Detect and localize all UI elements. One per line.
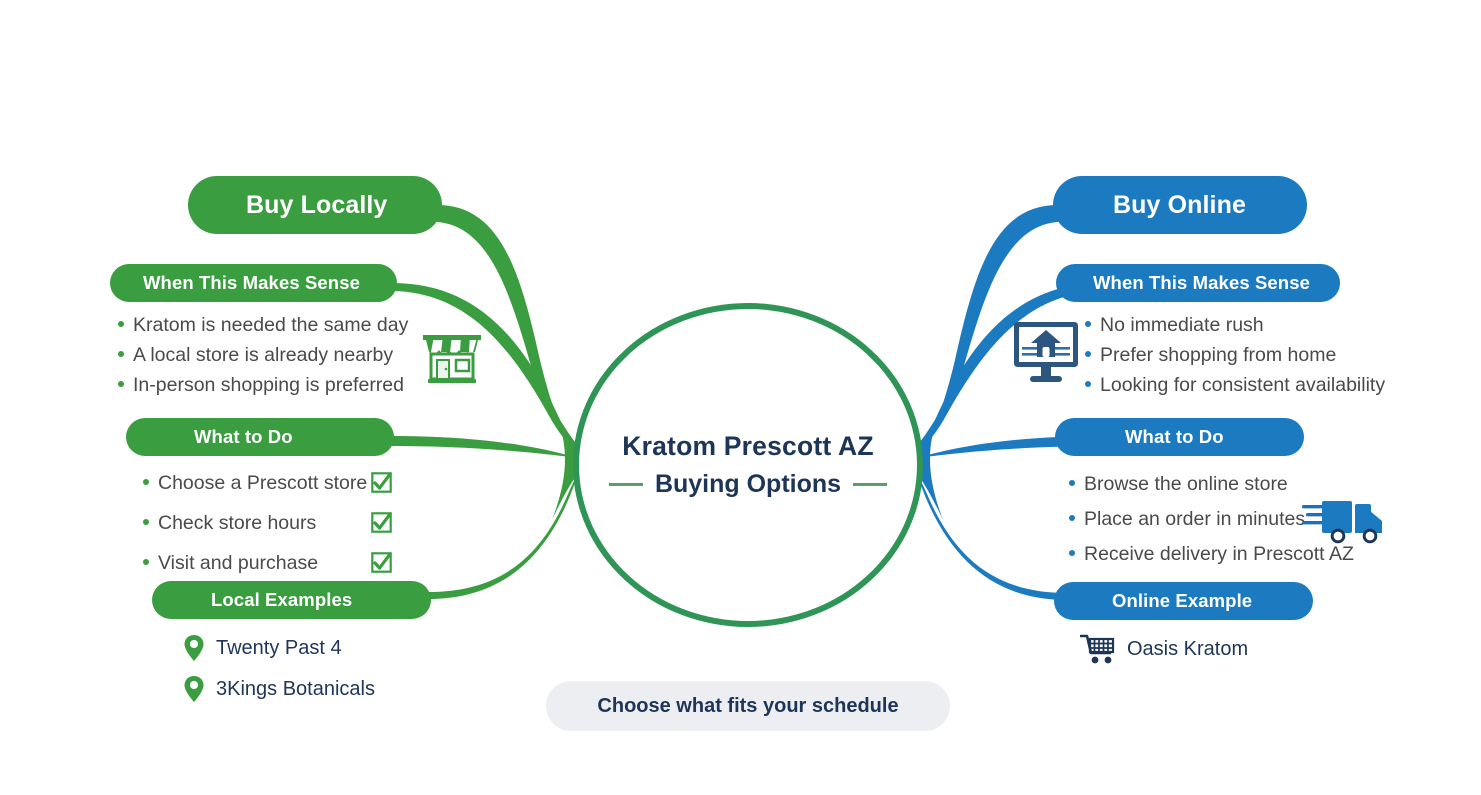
bullet-dot — [1069, 480, 1075, 486]
list-item-label: Place an order in minutes — [1084, 508, 1305, 531]
bullet-dot — [1069, 515, 1075, 521]
list-item: No immediate rush — [1085, 314, 1385, 337]
list-left-what-to-do: Choose a Prescott store Check store hour… — [143, 472, 367, 592]
branch-label-buy-online[interactable]: Buy Online — [1053, 176, 1307, 234]
list-item-label: A local store is already nearby — [133, 344, 393, 367]
branch-label-text: Buy Online — [1113, 191, 1246, 220]
list-item-label: Looking for consistent availability — [1100, 374, 1385, 397]
section-header-text: What to Do — [194, 426, 293, 448]
branch-label-buy-locally[interactable]: Buy Locally — [188, 176, 442, 234]
monitor-home-icon — [1011, 320, 1081, 393]
map-pin-icon — [183, 675, 205, 703]
section-header-text: What to Do — [1125, 426, 1224, 448]
section-header-text: When This Makes Sense — [143, 272, 360, 294]
footer-text: Choose what fits your schedule — [597, 695, 898, 718]
list-item: Oasis Kratom — [1080, 633, 1248, 665]
list-item-label: 3Kings Botanicals — [216, 678, 375, 701]
bullet-dot — [1085, 351, 1091, 357]
center-subtitle: Buying Options — [655, 470, 841, 499]
list-local-examples: Twenty Past 4 3Kings Botanicals — [183, 634, 375, 716]
bullet-dot — [118, 321, 124, 327]
delivery-truck-icon — [1302, 498, 1386, 551]
list-item-label: Visit and purchase — [158, 552, 318, 575]
list-item: Prefer shopping from home — [1085, 344, 1385, 367]
map-pin-icon — [183, 634, 205, 662]
checkbox-checked-icon — [371, 552, 392, 573]
list-item: A local store is already nearby — [118, 344, 408, 367]
section-header-text: Online Example — [1112, 590, 1252, 612]
section-header-text: Local Examples — [211, 589, 352, 611]
bullet-dot — [118, 351, 124, 357]
branch-left-sec3 — [428, 456, 590, 599]
section-header-left-when[interactable]: When This Makes Sense — [110, 264, 397, 302]
list-item: Check store hours — [143, 512, 367, 535]
section-header-text: When This Makes Sense — [1093, 272, 1310, 294]
checkbox-checked-icon — [371, 472, 392, 493]
checkbox-checked-icon — [371, 512, 392, 533]
list-item: Browse the online store — [1069, 473, 1354, 496]
list-item-label: In-person shopping is preferred — [133, 374, 404, 397]
branch-label-text: Buy Locally — [246, 191, 387, 220]
list-item-label: Kratom is needed the same day — [133, 314, 408, 337]
list-item: Twenty Past 4 — [183, 634, 375, 662]
list-item-label: Choose a Prescott store — [158, 472, 367, 495]
list-item-label: No immediate rush — [1100, 314, 1264, 337]
section-header-right-what-to-do[interactable]: What to Do — [1055, 418, 1304, 456]
divider-right — [853, 483, 887, 486]
section-header-left-what-to-do[interactable]: What to Do — [126, 418, 394, 456]
bullet-dot — [1069, 550, 1075, 556]
list-item-label: Prefer shopping from home — [1100, 344, 1336, 367]
bullet-dot — [143, 519, 149, 525]
list-item: Choose a Prescott store — [143, 472, 367, 495]
center-node: Kratom Prescott AZ Buying Options — [573, 303, 923, 627]
list-item: 3Kings Botanicals — [183, 675, 375, 703]
shopping-cart-icon — [1080, 633, 1116, 665]
storefront-icon — [419, 322, 485, 393]
page-title: Kratom Prescott AZ — [622, 431, 873, 462]
section-header-right-when[interactable]: When This Makes Sense — [1056, 264, 1340, 302]
bullet-dot — [1085, 381, 1091, 387]
branch-left-sec2 — [391, 436, 578, 458]
divider-left — [609, 483, 643, 486]
branch-right-sec3 — [905, 456, 1067, 600]
list-online-example: Oasis Kratom — [1080, 633, 1248, 678]
list-item: Visit and purchase — [143, 552, 367, 575]
bullet-dot — [118, 381, 124, 387]
bullet-dot — [143, 559, 149, 565]
list-item-label: Browse the online store — [1084, 473, 1288, 496]
bullet-dot — [1085, 321, 1091, 327]
list-item-label: Twenty Past 4 — [216, 637, 342, 660]
footer-callout: Choose what fits your schedule — [546, 681, 950, 731]
mindmap-canvas: Kratom Prescott AZ Buying Options Buy Lo… — [0, 0, 1481, 795]
center-subtitle-row: Buying Options — [609, 470, 887, 499]
list-item: In-person shopping is preferred — [118, 374, 408, 397]
list-item: Kratom is needed the same day — [118, 314, 408, 337]
list-item: Looking for consistent availability — [1085, 374, 1385, 397]
section-header-online-example[interactable]: Online Example — [1054, 582, 1313, 620]
list-left-when-this-makes-sense: Kratom is needed the same day A local st… — [118, 314, 408, 404]
bullet-dot — [143, 479, 149, 485]
list-right-when-this-makes-sense: No immediate rush Prefer shopping from h… — [1085, 314, 1385, 404]
list-item-label: Check store hours — [158, 512, 316, 535]
list-item-label: Oasis Kratom — [1127, 638, 1248, 661]
section-header-local-examples[interactable]: Local Examples — [152, 581, 431, 619]
